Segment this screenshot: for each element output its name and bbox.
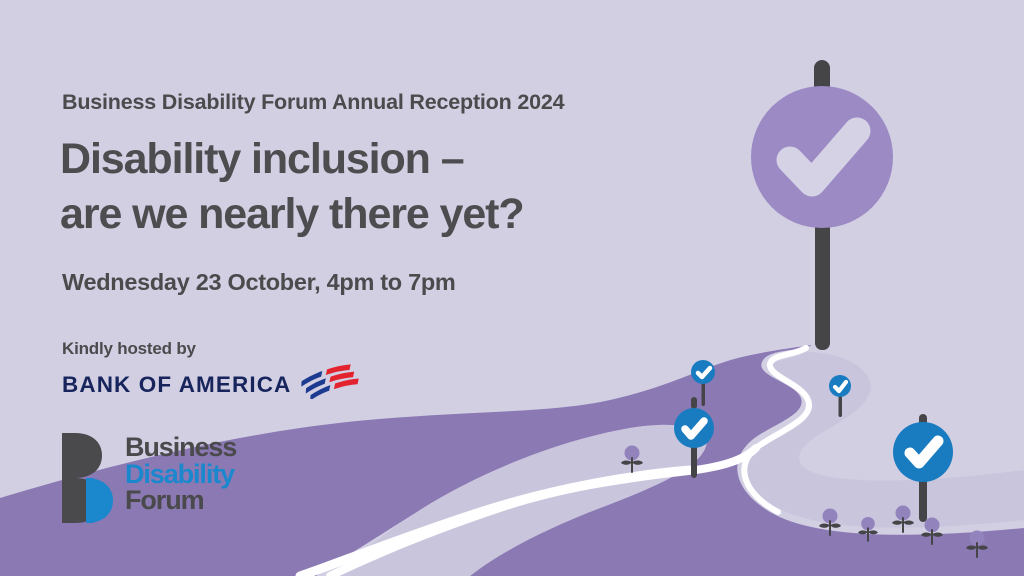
- bank-of-america-wordmark: BANK OF AMERICA: [62, 372, 291, 398]
- bdf-wordmark-line-2: Disability: [125, 461, 236, 488]
- banner-content: Business Disability Forum Annual Recepti…: [62, 0, 702, 576]
- signpost-small-right-face: [829, 375, 851, 397]
- bank-of-america-flagscape-icon: [299, 363, 361, 399]
- business-disability-forum-logo: Business Disability Forum: [62, 433, 236, 523]
- bdf-wordmark: Business Disability Forum: [125, 434, 236, 514]
- bank-of-america-logo: BANK OF AMERICA: [62, 370, 402, 399]
- bdf-wordmark-line-1: Business: [125, 434, 236, 461]
- event-banner: Business Disability Forum Annual Recepti…: [0, 0, 1024, 576]
- host-label: Kindly hosted by: [62, 339, 402, 359]
- bdf-monogram-icon: [62, 433, 116, 523]
- page-title: Disability inclusion – are we nearly the…: [60, 132, 524, 242]
- event-datetime: Wednesday 23 October, 4pm to 7pm: [62, 269, 456, 296]
- host-block: Kindly hosted by BANK OF AMERICA: [62, 339, 402, 399]
- bdf-wordmark-line-3: Forum: [125, 487, 236, 514]
- event-series-label: Business Disability Forum Annual Recepti…: [62, 90, 564, 115]
